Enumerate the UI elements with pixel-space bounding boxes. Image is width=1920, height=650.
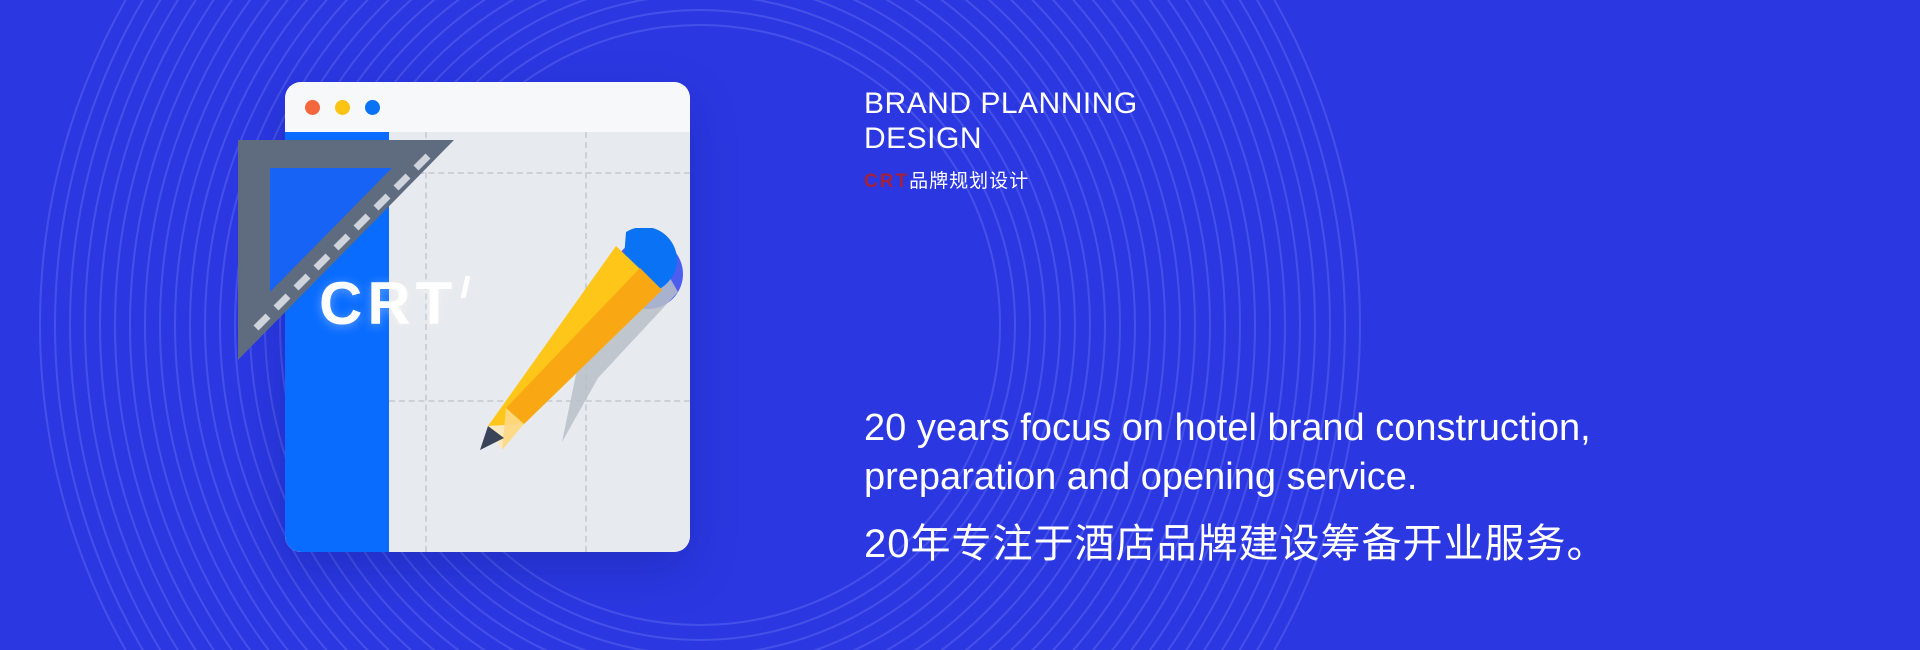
hero-illustration: CRT bbox=[230, 82, 690, 552]
triangle-ruler-icon bbox=[230, 134, 460, 366]
window-titlebar bbox=[285, 82, 690, 132]
tagline-english: 20 years focus on hotel brand constructi… bbox=[864, 404, 1591, 501]
pencil-icon bbox=[466, 228, 696, 468]
banner-content: BRAND PLANNING DESIGN CRT品牌规划设计 20 years… bbox=[864, 0, 1864, 650]
subtitle-brand-text: CRT bbox=[864, 171, 909, 192]
window-close-dot-icon[interactable] bbox=[305, 100, 320, 115]
tagline-chinese: 20年专注于酒店品牌建设筹备开业服务。 bbox=[864, 520, 1608, 568]
banner-subtitle: CRT品牌规划设计 bbox=[864, 170, 1029, 195]
window-minimize-dot-icon[interactable] bbox=[335, 100, 350, 115]
subtitle-chinese-text: 品牌规划设计 bbox=[909, 171, 1029, 192]
window-maximize-dot-icon[interactable] bbox=[365, 100, 380, 115]
brand-banner: CRT bbox=[0, 0, 1920, 650]
banner-headline: BRAND PLANNING DESIGN bbox=[864, 86, 1138, 157]
